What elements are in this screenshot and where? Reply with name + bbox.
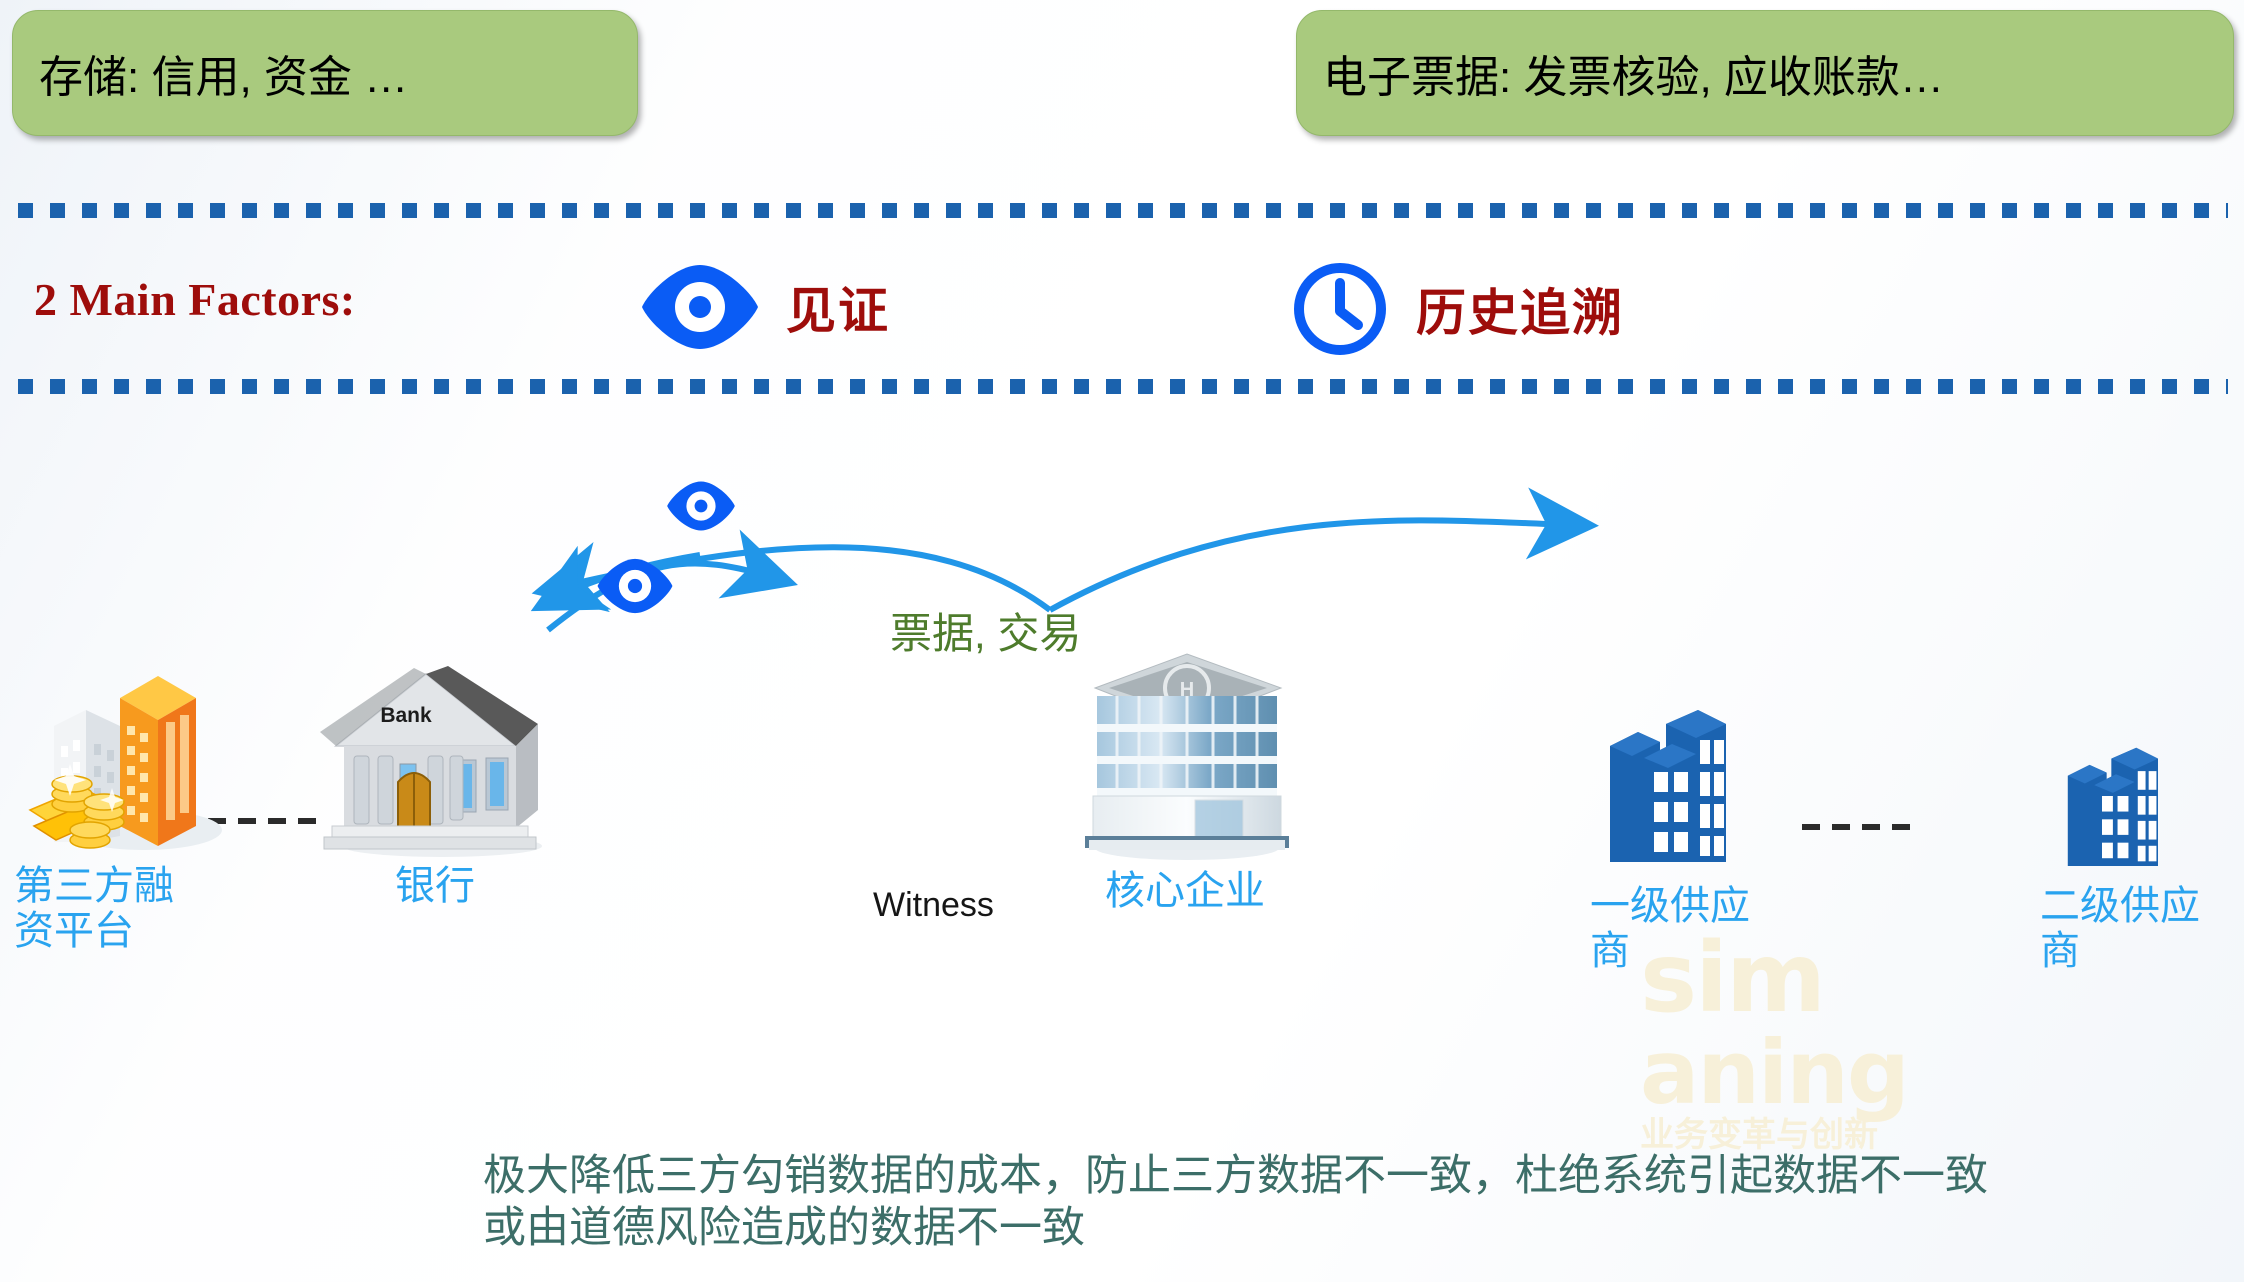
office-buildings-icon — [2060, 740, 2200, 880]
divider-bottom — [18, 379, 2228, 394]
eye-icon — [640, 259, 760, 355]
node-third-party-platform: 第三方融 资平台 — [14, 660, 244, 954]
conclusion-text: 极大降低三方勾销数据的成本，防止三方数据不一致，杜绝系统引起数据不一致 或由道德… — [483, 1150, 2223, 1255]
banner-e-bills-text: 电子票据: 发票核验, 应收账款… — [1297, 41, 1970, 105]
node-supplier-level-1: 一级供应 商 — [1590, 700, 1790, 974]
witness-label: Witness — [873, 886, 994, 925]
node-bank-label: 银行 — [395, 864, 475, 909]
factor-history-label: 历史追溯 — [1416, 273, 1624, 345]
conclusion-line-1: 极大降低三方勾销数据的成本，防止三方数据不一致，杜绝系统引起数据不一致 — [483, 1150, 2223, 1202]
banner-e-bills: 电子票据: 发票核验, 应收账款… — [1296, 10, 2234, 136]
factor-witness: 见证 — [640, 259, 890, 355]
office-buildings-icon — [1600, 700, 1780, 880]
banner-storage-text: 存储: 信用, 资金 … — [13, 41, 434, 105]
conclusion-line-2: 或由道德风险造成的数据不一致 — [483, 1202, 2223, 1254]
watermark-line-3: 业务变革与创新 — [1640, 1118, 2070, 1153]
node-supplier-level-2: 二级供应 商 — [2040, 740, 2220, 974]
bank-sign-text: Bank — [380, 704, 432, 727]
bank-building-icon: Bank — [310, 660, 560, 860]
factor-witness-label: 见证 — [786, 271, 890, 343]
city-coins-icon — [24, 660, 234, 860]
divider-top — [18, 203, 2228, 218]
factor-history-trace: 历史追溯 — [1290, 259, 1624, 359]
banner-storage: 存储: 信用, 资金 … — [12, 10, 638, 136]
node-supplier-level-1-label: 一级供应 商 — [1590, 884, 1750, 974]
eye-icon — [665, 478, 737, 534]
main-factors-label: 2 Main Factors: — [34, 273, 356, 326]
node-core-enterprise-label: 核心企业 — [1105, 869, 1265, 914]
clock-icon — [1290, 259, 1390, 359]
arrow-core-to-supplier1 — [1050, 520, 1575, 610]
node-bank: Bank 银行 — [300, 660, 570, 909]
dashed-connector-supplier1-supplier2 — [1802, 824, 1922, 830]
node-core-enterprise: H 核心企业 — [1040, 640, 1330, 914]
watermark-line-2: aning — [1640, 1028, 2070, 1118]
main-factors-row: 2 Main Factors: 见证 历史追溯 — [0, 255, 2244, 365]
glass-tower-icon: H — [1065, 640, 1305, 865]
node-third-party-platform-label: 第三方融 资平台 — [14, 864, 174, 954]
node-supplier-level-2-label: 二级供应 商 — [2040, 884, 2200, 974]
eye-icon — [595, 555, 675, 617]
